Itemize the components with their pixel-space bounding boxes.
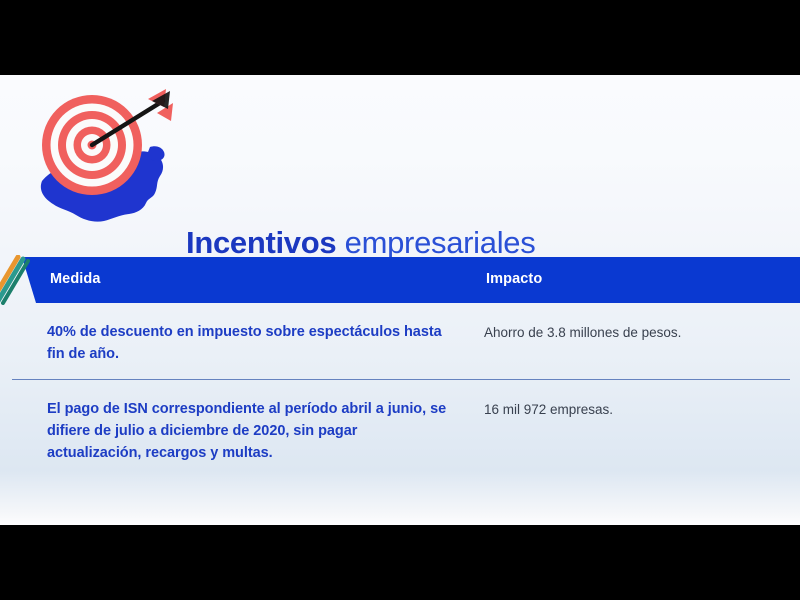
cell-medida: El pago de ISN correspondiente al períod… bbox=[47, 398, 452, 464]
cell-medida: 40% de descuento en impuesto sobre espec… bbox=[47, 321, 452, 365]
cell-impacto: Ahorro de 3.8 millones de pesos. bbox=[484, 323, 784, 343]
slide-header: Incentivos empresariales bbox=[0, 75, 800, 255]
page-title-bold: Incentivos bbox=[186, 225, 336, 260]
column-header-medida: Medida bbox=[50, 271, 101, 287]
table-header-row: Medida Impacto bbox=[22, 257, 800, 303]
letterbox-top bbox=[0, 0, 800, 75]
letterbox-bottom bbox=[0, 525, 800, 600]
presentation-slide: Incentivos empresariales Medida Impacto … bbox=[0, 75, 800, 525]
video-frame: Incentivos empresariales Medida Impacto … bbox=[0, 0, 800, 600]
page-title: Incentivos empresariales bbox=[186, 227, 535, 258]
page-title-light: empresariales bbox=[336, 225, 535, 260]
column-header-impacto: Impacto bbox=[486, 271, 542, 287]
table-row: 40% de descuento en impuesto sobre espec… bbox=[0, 303, 800, 379]
target-arrow-state-map-logo bbox=[24, 83, 184, 233]
cell-impacto: 16 mil 972 empresas. bbox=[484, 400, 784, 420]
incentives-table: Medida Impacto 40% de descuento en impue… bbox=[0, 257, 800, 478]
table-row: El pago de ISN correspondiente al períod… bbox=[0, 380, 800, 478]
